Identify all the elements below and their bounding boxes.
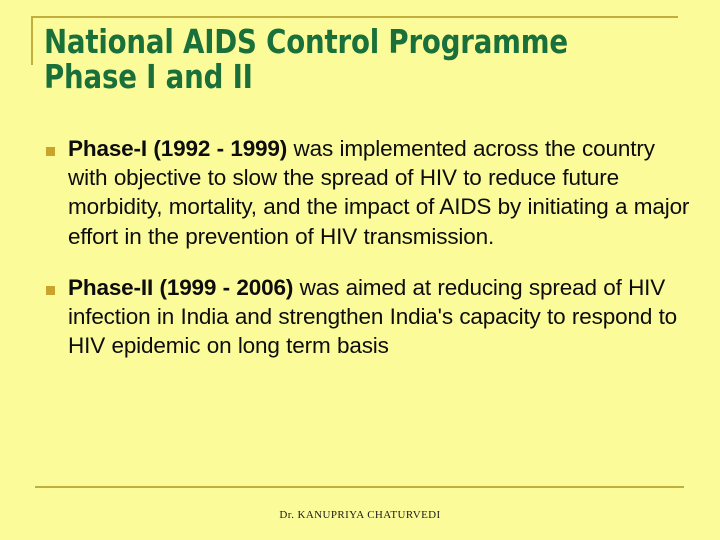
bullet-lead-label: Phase-II (1999 - 2006) [68, 275, 293, 300]
square-bullet-icon [46, 147, 55, 156]
list-item: Phase-I (1992 - 1999) was implemented ac… [40, 134, 690, 251]
square-bullet-icon [46, 286, 55, 295]
bullet-text: Phase-I (1992 - 1999) was implemented ac… [68, 134, 690, 251]
footer-credit: Dr. KANUPRIYA CHATURVEDI [0, 509, 720, 521]
bullet-text: Phase-II (1999 - 2006) was aimed at redu… [68, 273, 690, 361]
title-top-rule [31, 16, 678, 18]
page-title-line-1: National AIDS Control Programme [44, 24, 639, 59]
title-left-rule [31, 16, 33, 65]
bullet-list: Phase-I (1992 - 1999) was implemented ac… [40, 134, 690, 382]
page-title-line-2: Phase I and II [44, 59, 639, 94]
bullet-lead-label: Phase-I (1992 - 1999) [68, 136, 287, 161]
page-title: National AIDS Control Programme Phase I … [44, 24, 684, 94]
slide-canvas: National AIDS Control Programme Phase I … [0, 0, 720, 540]
list-item: Phase-II (1999 - 2006) was aimed at redu… [40, 273, 690, 361]
footer-divider [35, 486, 684, 488]
